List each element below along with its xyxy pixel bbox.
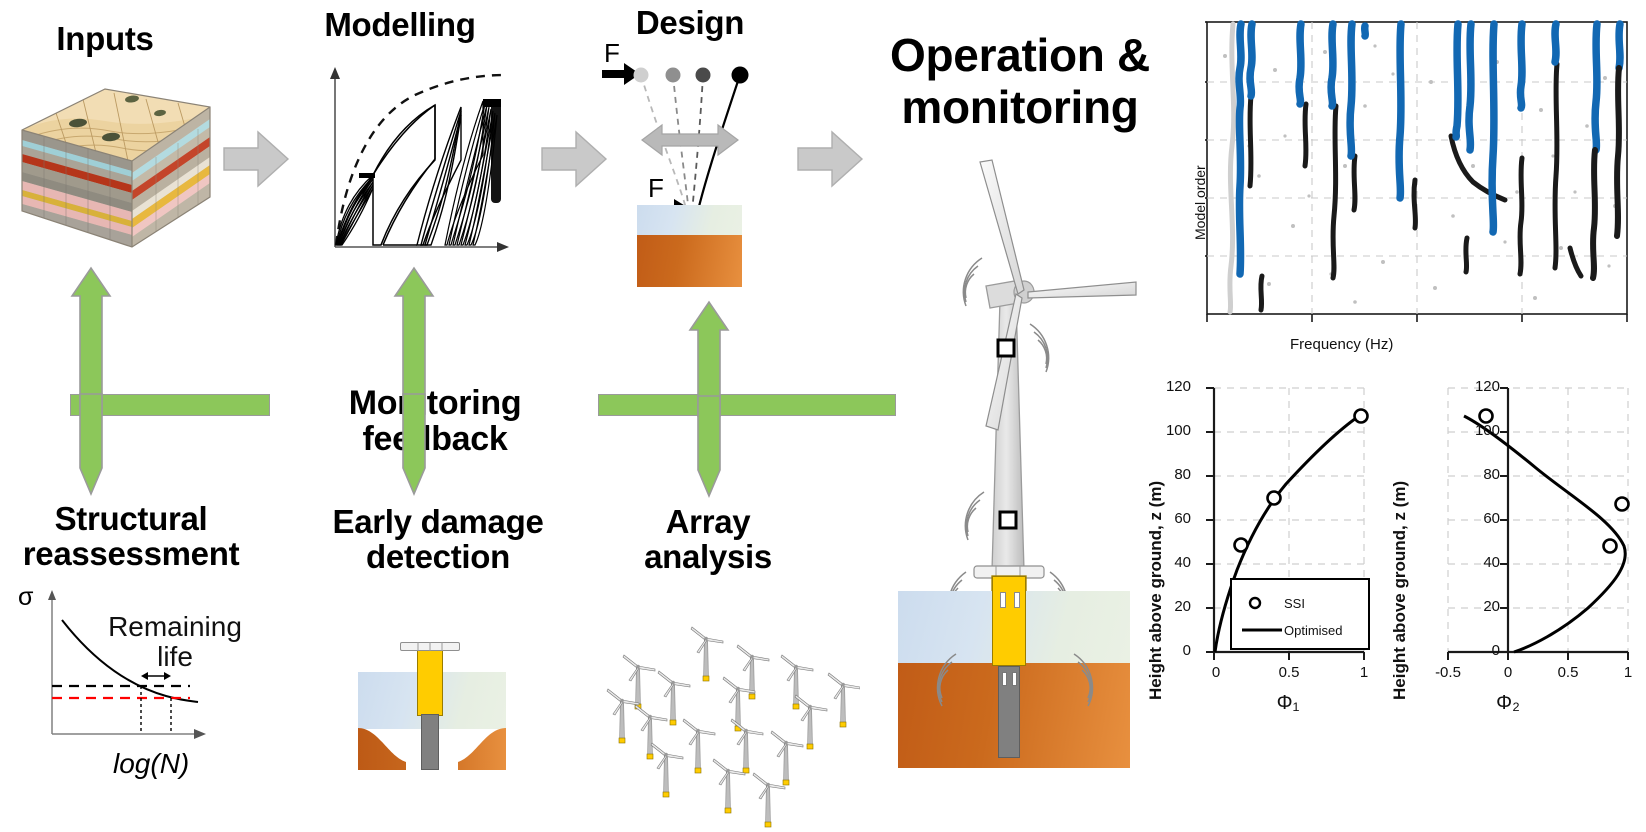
feedback-branch-design — [680, 290, 740, 505]
flow-arrow-2 — [540, 128, 608, 190]
mode-shape-2-chart — [1440, 380, 1640, 710]
operation-pile-window-left — [1000, 592, 1006, 608]
scour-embedded-pile — [421, 714, 439, 770]
early-damage-label-line1: Early damage — [308, 505, 568, 540]
mode2-ytick-100: 100 — [1472, 422, 1500, 439]
mode2-xtick-m05: -0.5 — [1428, 664, 1468, 681]
feedback-branch-inputs — [62, 254, 122, 504]
mode-shape-legend: SSI Optimised — [1230, 578, 1370, 650]
feedback-target-early-damage: Early damage detection — [308, 505, 568, 574]
stage-title-inputs: Inputs — [20, 22, 190, 57]
mode1-xtick-05: 0.5 — [1277, 664, 1301, 681]
accelerometer-sensor-icon — [1000, 512, 1016, 528]
legend-marker-ssi — [1246, 594, 1264, 612]
scour-monopile-yellow — [417, 650, 443, 716]
legend-marker-optimised — [1240, 626, 1284, 634]
sn-curve-ylabel: σ — [18, 583, 33, 612]
legend-label-optimised: Optimised — [1284, 623, 1343, 638]
design-double-arrow — [642, 125, 738, 155]
scour-platform-ribs — [400, 642, 460, 651]
stabilization-xlabel: Frequency (Hz) — [1290, 336, 1393, 353]
mode2-ytick-80: 80 — [1472, 466, 1500, 483]
early-damage-label-line2: detection — [308, 540, 568, 575]
mode2-xtick-1: 1 — [1616, 664, 1640, 681]
geological-soil-block-icon — [10, 75, 222, 257]
mode2-ytick-60: 60 — [1472, 510, 1500, 527]
mode2-ytick-20: 20 — [1472, 598, 1500, 615]
vibration-wave-icon — [965, 492, 984, 540]
feedback-target-array: Array analysis — [608, 505, 808, 574]
array-label-line2: analysis — [608, 540, 808, 575]
sn-curve-chart — [40, 586, 220, 756]
mode1-ytick-100: 100 — [1163, 422, 1191, 439]
array-label-line1: Array — [608, 505, 808, 540]
seabed-vibration-waves — [930, 648, 1100, 738]
mode1-ytick-60: 60 — [1163, 510, 1191, 527]
mode1-ytick-40: 40 — [1163, 554, 1191, 571]
vibration-wave-icon — [963, 258, 982, 306]
vibration-wave-icon — [1030, 324, 1049, 372]
mode1-ytick-80: 80 — [1163, 466, 1191, 483]
mode1-ytick-20: 20 — [1163, 598, 1191, 615]
stage-title-design: Design — [605, 6, 775, 41]
mode2-xtick-05: 0.5 — [1556, 664, 1580, 681]
structural-label-line1: Structural — [6, 502, 256, 537]
mode2-xtick-0: 0 — [1496, 664, 1520, 681]
feedback-horizontal-bar-right — [598, 394, 896, 416]
accelerometer-sensor-icon — [998, 340, 1014, 356]
sn-curve-xlabel: log(N) — [113, 748, 189, 780]
flow-arrow-3 — [796, 128, 864, 190]
flow-arrow-1 — [222, 128, 290, 190]
mode1-ytick-0: 0 — [1163, 642, 1191, 659]
legend-label-ssi: SSI — [1284, 596, 1305, 611]
stabilization-diagram — [1205, 16, 1635, 326]
mode1-ytick-120: 120 — [1163, 378, 1191, 395]
mode1-xlabel: Φ₁ — [1258, 692, 1318, 715]
mode2-xlabel: Φ₂ — [1478, 692, 1538, 715]
mode1-xtick-0: 0 — [1204, 664, 1228, 681]
operation-pile-window-right — [1014, 592, 1020, 608]
design-water-layer — [637, 205, 742, 235]
mode-shape-1-chart — [1196, 380, 1376, 710]
mode1-xtick-1: 1 — [1352, 664, 1376, 681]
wind-farm-array-icon — [600, 620, 860, 830]
hysteresis-loops-chart-icon — [295, 55, 517, 255]
mode2-ytick-0: 0 — [1472, 642, 1500, 659]
mode2-ytick-120: 120 — [1472, 378, 1500, 395]
mode2-ytick-40: 40 — [1472, 554, 1500, 571]
structural-label-line2: reassessment — [6, 537, 256, 572]
feedback-target-structural: Structural reassessment — [6, 502, 256, 571]
design-soil-layer — [637, 235, 742, 287]
stage-title-operation: Operation & monitoring — [880, 30, 1160, 133]
figure-root: Inputs Modelling Design Operation & moni… — [0, 0, 1646, 832]
stage-title-modelling: Modelling — [285, 8, 515, 43]
mode2-ylabel-text: Height above ground, z (m) — [1390, 481, 1410, 700]
feedback-branch-modelling — [385, 254, 445, 504]
